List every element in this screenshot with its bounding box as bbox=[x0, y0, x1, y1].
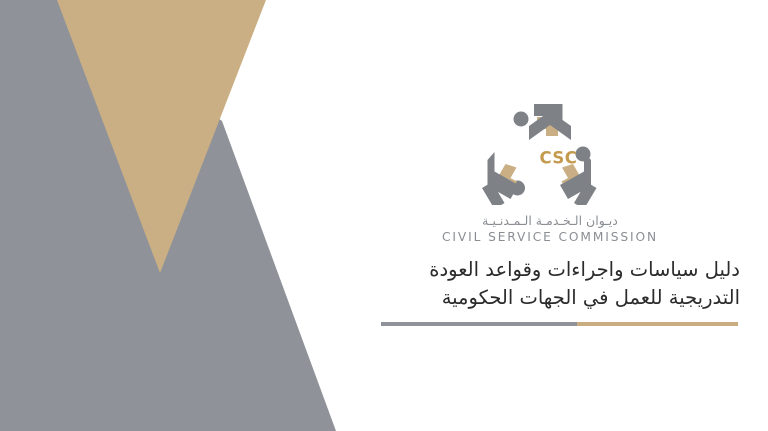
title-divider-rule bbox=[381, 322, 738, 326]
cover-page: CSC ديـوان الـخـدمـة الـمـدنـيـة CIVIL S… bbox=[0, 0, 768, 431]
document-title-block: دليل سياسات واجراءات وقواعد العودة التدر… bbox=[340, 256, 740, 326]
logo-figure-top bbox=[514, 104, 572, 140]
organisation-name-arabic: ديـوان الـخـدمـة الـمـدنـيـة bbox=[400, 214, 700, 228]
document-title-line-2: التدريجية للعمل في الجهات الحكومية bbox=[340, 284, 740, 312]
title-divider-gray-segment bbox=[381, 322, 577, 326]
title-divider-gold-segment bbox=[577, 322, 738, 326]
logo-monogram: CSC bbox=[540, 149, 578, 168]
document-title-line-1: دليل سياسات واجراءات وقواعد العودة bbox=[340, 256, 740, 284]
logo-figure-left bbox=[482, 152, 525, 205]
csc-triskelion-logo-icon: CSC bbox=[475, 90, 625, 205]
logo-block: CSC ديـوان الـخـدمـة الـمـدنـيـة CIVIL S… bbox=[400, 90, 700, 245]
organisation-name-english: CIVIL SERVICE COMMISSION bbox=[400, 230, 700, 245]
